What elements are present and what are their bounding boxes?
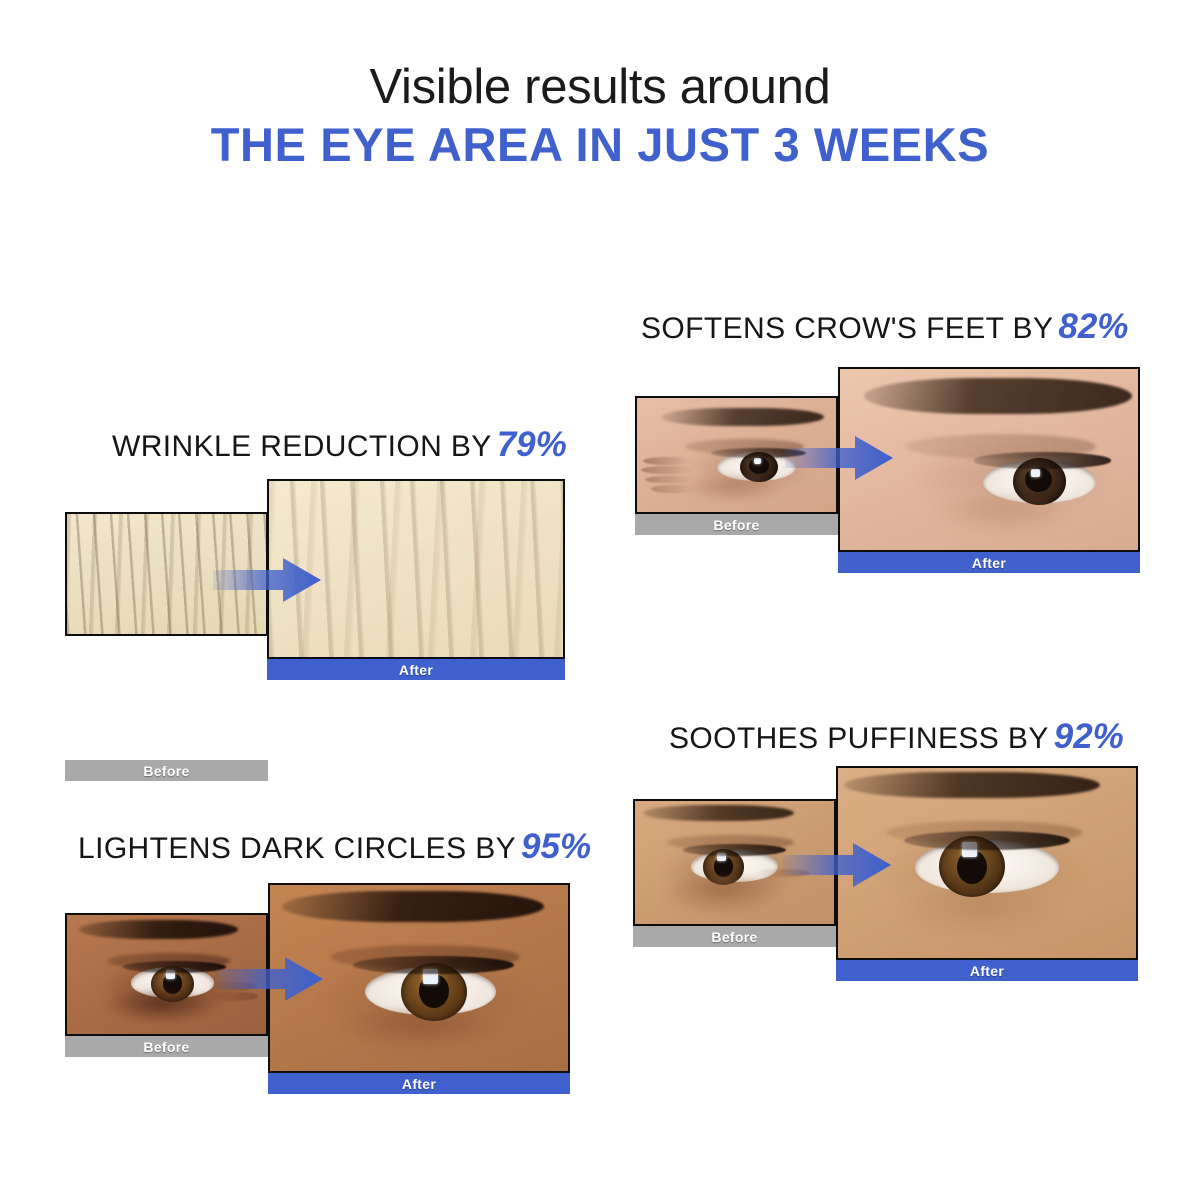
claim-puffiness: SOOTHES PUFFINESS BY92% — [669, 717, 1124, 757]
before-image-wrinkle-reduction — [65, 512, 268, 636]
before-caption-crows-feet: Before — [635, 514, 838, 535]
claim-percent-puffiness: 92% — [1054, 717, 1124, 756]
after-group-crows-feet: After — [838, 367, 1140, 573]
eye-after-crows-feet — [840, 369, 1138, 550]
before-after-dark-circles: Before After — [65, 883, 570, 1093]
after-caption-dark-circles: After — [268, 1073, 570, 1094]
claim-wrinkle-reduction: WRINKLE REDUCTION BY79% — [112, 425, 567, 465]
claim-crows-feet: SOFTENS CROW'S FEET BY82% — [641, 307, 1128, 347]
eye-after-dark-circles — [270, 885, 568, 1071]
claim-label-crows-feet: SOFTENS CROW'S FEET BY — [641, 312, 1053, 345]
page-title-line-2: THE EYE AREA IN JUST 3 WEEKS — [0, 113, 1200, 176]
claim-label-puffiness: SOOTHES PUFFINESS BY — [669, 722, 1049, 755]
before-group-wrinkle-reduction: Before — [65, 512, 268, 657]
claim-dark-circles: LIGHTENS DARK CIRCLES BY95% — [78, 827, 591, 867]
before-after-wrinkle-reduction: Before After — [65, 479, 565, 689]
after-image-puffiness — [836, 766, 1138, 960]
before-caption-puffiness: Before — [633, 926, 836, 947]
after-group-wrinkle-reduction: After — [267, 479, 565, 680]
eye-before-puffiness — [635, 801, 834, 924]
eye-before-dark-circles — [67, 915, 266, 1034]
after-caption-puffiness: After — [836, 960, 1138, 981]
after-group-dark-circles: After — [268, 883, 570, 1094]
before-caption-dark-circles: Before — [65, 1036, 268, 1057]
before-group-dark-circles: Before — [65, 913, 268, 1057]
after-caption-crows-feet: After — [838, 552, 1140, 573]
before-group-crows-feet: Before — [635, 396, 838, 535]
claim-label-dark-circles: LIGHTENS DARK CIRCLES BY — [78, 832, 516, 865]
eye-before-crows-feet — [637, 398, 836, 512]
after-group-puffiness: After — [836, 766, 1138, 981]
claim-percent-crows-feet: 82% — [1058, 307, 1128, 346]
page-title: Visible results around THE EYE AREA IN J… — [0, 62, 1200, 177]
before-caption-wrinkle-reduction: Before — [65, 760, 268, 781]
claim-percent-wrinkle-reduction: 79% — [497, 425, 567, 464]
after-image-crows-feet — [838, 367, 1140, 552]
results-infographic: Visible results around THE EYE AREA IN J… — [0, 0, 1200, 1200]
after-image-wrinkle-reduction — [267, 479, 565, 659]
before-after-crows-feet: Before After — [635, 367, 1140, 577]
after-caption-wrinkle-reduction: After — [267, 659, 565, 680]
claim-label-wrinkle-reduction: WRINKLE REDUCTION BY — [112, 430, 492, 463]
before-image-puffiness — [633, 799, 836, 926]
before-group-puffiness: Before — [633, 799, 836, 947]
page-title-line-1: Visible results around — [0, 62, 1200, 113]
before-image-dark-circles — [65, 913, 268, 1036]
claim-percent-dark-circles: 95% — [521, 827, 591, 866]
before-after-puffiness: Before After — [633, 766, 1138, 981]
before-image-crows-feet — [635, 396, 838, 514]
eye-after-puffiness — [838, 768, 1136, 958]
after-image-dark-circles — [268, 883, 570, 1073]
